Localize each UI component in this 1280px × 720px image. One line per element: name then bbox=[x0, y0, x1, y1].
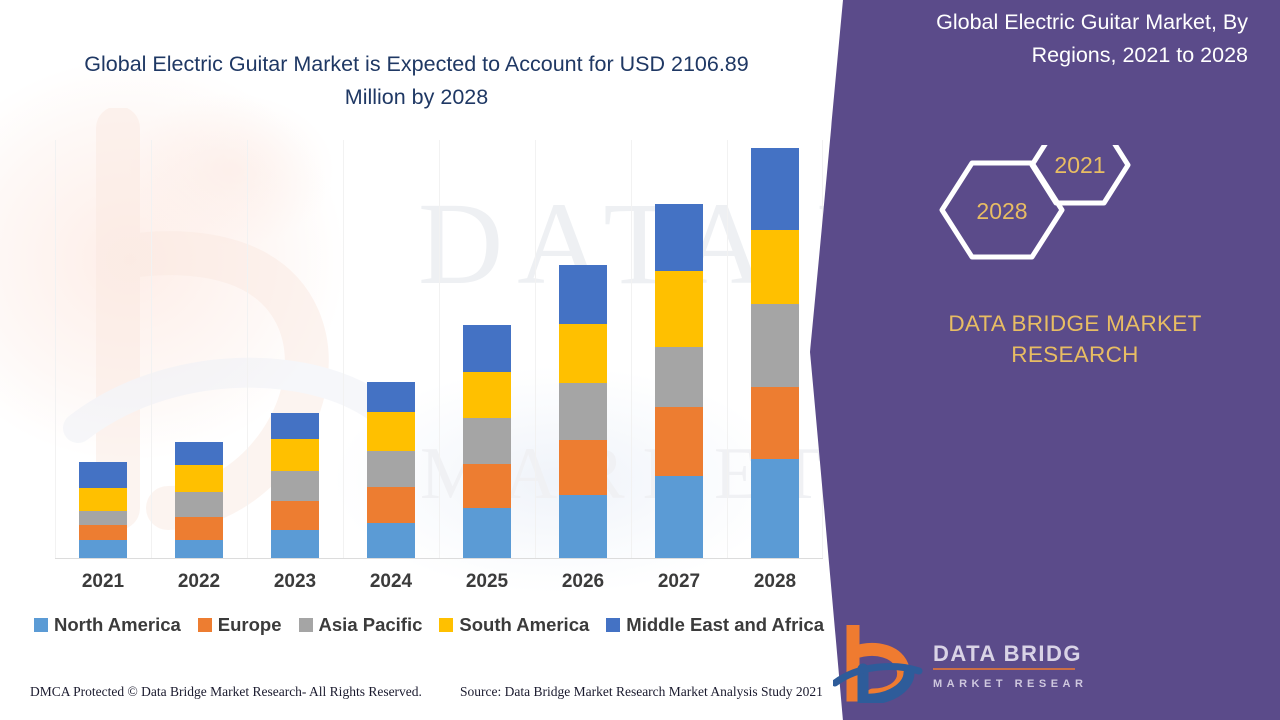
legend-swatch-icon bbox=[439, 618, 453, 632]
dbmr-logo-name: DATA BRIDGE bbox=[933, 641, 1083, 666]
bar-2022[interactable] bbox=[175, 442, 223, 559]
bar-segment[interactable] bbox=[367, 523, 415, 559]
bar-2025[interactable] bbox=[463, 325, 511, 559]
bar-segment[interactable] bbox=[271, 439, 319, 471]
bar-segment[interactable] bbox=[655, 204, 703, 271]
bar-2027[interactable] bbox=[655, 204, 703, 559]
bar-segment[interactable] bbox=[559, 440, 607, 495]
legend-item[interactable]: Europe bbox=[198, 614, 282, 636]
year-badges: 2028 2021 bbox=[928, 145, 1138, 295]
x-axis-label-2028: 2028 bbox=[727, 571, 823, 593]
x-axis-label-2021: 2021 bbox=[55, 571, 151, 593]
x-axis-label-2025: 2025 bbox=[439, 571, 535, 593]
bar-segment[interactable] bbox=[655, 271, 703, 347]
badge-end-year: 2021 bbox=[1032, 145, 1128, 203]
bar-segment[interactable] bbox=[559, 383, 607, 440]
bar-segment[interactable] bbox=[655, 347, 703, 407]
bar-segment[interactable] bbox=[559, 495, 607, 559]
bar-segment[interactable] bbox=[751, 387, 799, 459]
legend-label: South America bbox=[459, 614, 589, 636]
bar-segment[interactable] bbox=[175, 442, 223, 465]
panel-title: Global Electric Guitar Market, By Region… bbox=[848, 6, 1248, 72]
footer-source: Source: Data Bridge Market Research Mark… bbox=[460, 684, 823, 700]
bar-segment[interactable] bbox=[463, 418, 511, 464]
bar-segment[interactable] bbox=[79, 462, 127, 488]
bar-2026[interactable] bbox=[559, 265, 607, 559]
x-axis-label-2026: 2026 bbox=[535, 571, 631, 593]
bar-segment[interactable] bbox=[367, 487, 415, 522]
infographic-canvas: DATA BRIDGE MARKET RESEARCH Global Elect… bbox=[0, 0, 1280, 720]
panel-content: Global Electric Guitar Market, By Region… bbox=[810, 0, 1280, 720]
bar-segment[interactable] bbox=[271, 413, 319, 438]
bar-segment[interactable] bbox=[271, 530, 319, 559]
bar-2024[interactable] bbox=[367, 382, 415, 559]
dbmr-logo-tagline: MARKET RESEARCH bbox=[933, 678, 1083, 690]
x-axis-labels: 20212022202320242025202620272028 bbox=[55, 571, 823, 605]
bar-segment[interactable] bbox=[463, 325, 511, 371]
bar-segment[interactable] bbox=[559, 265, 607, 325]
legend-swatch-icon bbox=[34, 618, 48, 632]
bar-segment[interactable] bbox=[271, 471, 319, 501]
legend-item[interactable]: South America bbox=[439, 614, 589, 636]
bar-segment[interactable] bbox=[751, 459, 799, 559]
legend-item[interactable]: Asia Pacific bbox=[299, 614, 423, 636]
badge-end-year-label: 2021 bbox=[1054, 152, 1105, 178]
bar-segment[interactable] bbox=[463, 508, 511, 559]
legend-swatch-icon bbox=[606, 618, 620, 632]
chart-plot-area bbox=[55, 140, 823, 560]
badge-start-year-label: 2028 bbox=[976, 198, 1027, 224]
bar-segment[interactable] bbox=[463, 464, 511, 508]
bar-2023[interactable] bbox=[271, 413, 319, 559]
bar-segment[interactable] bbox=[751, 230, 799, 304]
legend-swatch-icon bbox=[198, 618, 212, 632]
bar-segment[interactable] bbox=[79, 511, 127, 525]
bar-segment[interactable] bbox=[367, 382, 415, 413]
bar-2021[interactable] bbox=[79, 462, 127, 559]
chart-legend: North AmericaEuropeAsia PacificSouth Ame… bbox=[0, 614, 858, 636]
badge-start-year: 2028 bbox=[942, 163, 1062, 257]
legend-item[interactable]: North America bbox=[34, 614, 181, 636]
bar-segment[interactable] bbox=[655, 476, 703, 559]
legend-label: Asia Pacific bbox=[319, 614, 423, 636]
bar-segment[interactable] bbox=[79, 525, 127, 540]
legend-label: North America bbox=[54, 614, 181, 636]
bar-segment[interactable] bbox=[559, 324, 607, 382]
bar-segment[interactable] bbox=[271, 501, 319, 531]
x-axis-label-2024: 2024 bbox=[343, 571, 439, 593]
brand-name: DATA BRIDGE MARKET RESEARCH bbox=[910, 308, 1240, 370]
x-axis-label-2023: 2023 bbox=[247, 571, 343, 593]
dbmr-logo-icon: DATA BRIDGE MARKET RESEARCH bbox=[833, 625, 1083, 703]
page-title: Global Electric Guitar Market is Expecte… bbox=[54, 48, 779, 114]
bar-segment[interactable] bbox=[175, 492, 223, 517]
bar-segment[interactable] bbox=[367, 451, 415, 487]
bar-segment[interactable] bbox=[655, 407, 703, 476]
x-axis-line bbox=[55, 558, 823, 559]
legend-label: Europe bbox=[218, 614, 282, 636]
bar-segment[interactable] bbox=[79, 540, 127, 559]
bar-segment[interactable] bbox=[175, 465, 223, 491]
bar-segment[interactable] bbox=[751, 304, 799, 387]
bar-segment[interactable] bbox=[463, 372, 511, 418]
bar-2028[interactable] bbox=[751, 148, 799, 559]
bar-segment[interactable] bbox=[79, 488, 127, 510]
legend-label: Middle East and Africa bbox=[626, 614, 824, 636]
bar-segment[interactable] bbox=[175, 540, 223, 559]
x-axis-label-2027: 2027 bbox=[631, 571, 727, 593]
footer-copyright: DMCA Protected © Data Bridge Market Rese… bbox=[30, 684, 422, 700]
legend-item[interactable]: Middle East and Africa bbox=[606, 614, 824, 636]
bar-segment[interactable] bbox=[367, 412, 415, 451]
bar-segment[interactable] bbox=[751, 148, 799, 231]
x-axis-label-2022: 2022 bbox=[151, 571, 247, 593]
legend-swatch-icon bbox=[299, 618, 313, 632]
bar-segment[interactable] bbox=[175, 517, 223, 540]
